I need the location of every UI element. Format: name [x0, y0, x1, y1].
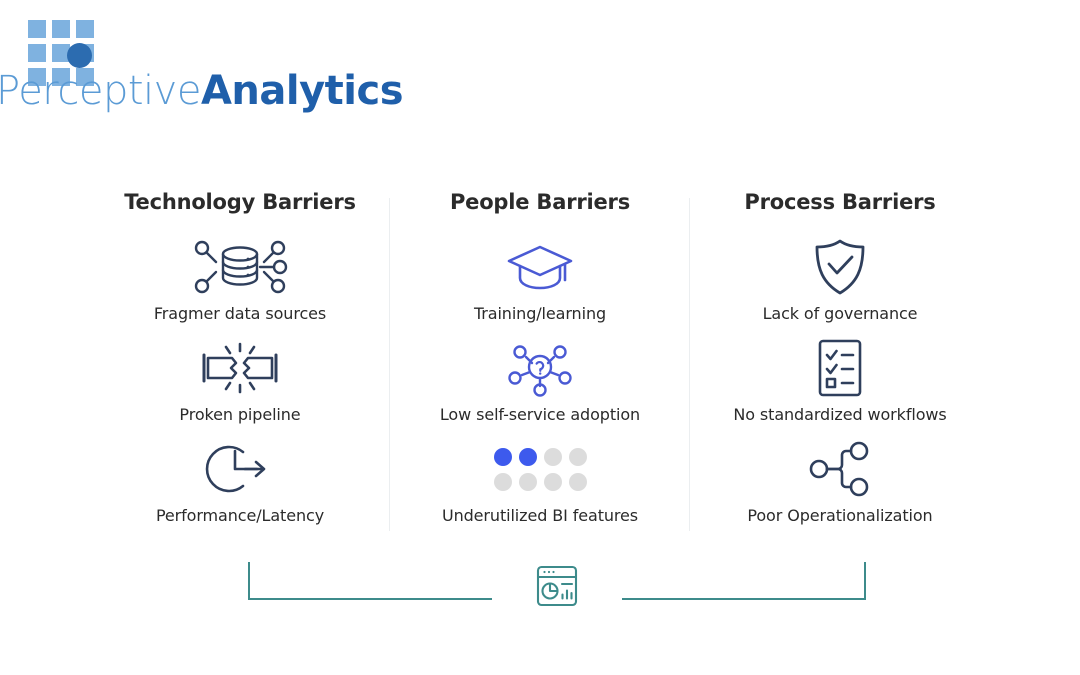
barrier-item: Lack of governance [690, 236, 990, 323]
checklist-document-icon [814, 337, 866, 399]
dashboard-analytics-icon [526, 564, 588, 608]
barrier-item: Underutilized BI features [390, 438, 690, 525]
brand-logo: PerceptiveAnalytics [0, 8, 300, 118]
connector-right-stem [864, 562, 866, 600]
barrier-item: Poor Operationalization [690, 438, 990, 525]
barrier-item: Low self-service adoption [390, 337, 690, 424]
barrier-item: Performance/Latency [90, 438, 390, 525]
logo-accent-dot [67, 43, 92, 68]
slide-canvas: PerceptiveAnalytics Technology Barriers [0, 0, 1080, 675]
question-hub-network-icon [504, 337, 576, 399]
barriers-columns: Technology Barriers [90, 190, 990, 545]
connector-right-arm [622, 598, 866, 600]
shield-check-icon [811, 236, 869, 298]
column-title: Technology Barriers [124, 190, 356, 214]
column-technology-barriers: Technology Barriers [90, 190, 390, 545]
connector-left-arm [248, 598, 492, 600]
barrier-label: Fragmer data sources [154, 304, 326, 323]
bottom-connector [248, 562, 866, 606]
graduation-cap-icon [505, 236, 575, 298]
barrier-label: Underutilized BI features [442, 506, 638, 525]
barrier-label: Training/learning [474, 304, 606, 323]
barrier-label: Poor Operationalization [747, 506, 932, 525]
barrier-item: Proken pipeline [90, 337, 390, 424]
barrier-label: No standardized workflows [733, 405, 946, 424]
barrier-label: Performance/Latency [156, 506, 324, 525]
column-title: Process Barriers [744, 190, 935, 214]
brand-wordmark: PerceptiveAnalytics [0, 68, 403, 114]
database-network-icon [192, 236, 288, 298]
brand-name-light: Perceptive [0, 68, 201, 114]
barrier-label: Proken pipeline [179, 405, 300, 424]
barrier-item: No standardized workflows [690, 337, 990, 424]
clock-arrow-icon [205, 438, 275, 500]
column-process-barriers: Process Barriers Lack of governance [690, 190, 990, 545]
connector-left-stem [248, 562, 250, 600]
broken-pipeline-icon [198, 337, 282, 399]
barrier-label: Lack of governance [763, 304, 918, 323]
column-title: People Barriers [450, 190, 630, 214]
barrier-item: Training/learning [390, 236, 690, 323]
dot-matrix-icon [494, 438, 587, 500]
dot-matrix-grid [494, 448, 587, 491]
branch-nodes-icon [807, 438, 873, 500]
barrier-label: Low self-service adoption [440, 405, 640, 424]
barrier-item: Fragmer data sources [90, 236, 390, 323]
brand-name-bold: Analytics [201, 68, 403, 114]
column-people-barriers: People Barriers Training/learning [390, 190, 690, 545]
